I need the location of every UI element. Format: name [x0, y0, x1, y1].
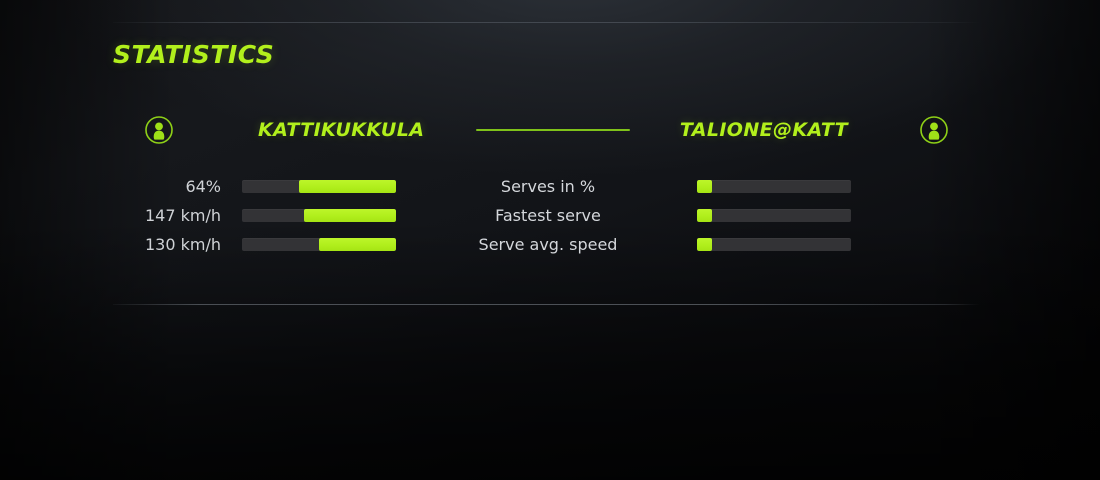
statistics-panel: STATISTICS KATTIKUKKULA TALIONE@KATT 64% [0, 0, 1100, 480]
left-bar-wrap [221, 238, 417, 251]
right-bar-track [697, 180, 851, 193]
right-bar-track [697, 209, 851, 222]
left-bar-wrap [221, 180, 417, 193]
left-value: 64% [113, 177, 221, 196]
left-bar-track [242, 180, 396, 193]
table-row: 147 km/h Fastest serve [113, 201, 980, 230]
left-bar-fill [304, 209, 396, 222]
left-bar-track [242, 238, 396, 251]
stat-label: Fastest serve [417, 206, 679, 225]
right-player-avatar[interactable] [888, 115, 980, 145]
center-green-rule [476, 129, 630, 131]
person-avatar-icon [919, 115, 949, 145]
left-player-name: KATTIKUKKULA [205, 119, 458, 141]
person-avatar-icon [144, 115, 174, 145]
left-bar-fill [299, 180, 396, 193]
top-divider [113, 22, 980, 23]
table-row: 130 km/h Serve avg. speed [113, 230, 980, 259]
left-player-avatar[interactable] [113, 115, 205, 145]
page-title: STATISTICS [113, 40, 274, 69]
left-bar-fill [319, 238, 396, 251]
left-bar-track [242, 209, 396, 222]
stat-label: Serves in % [417, 177, 679, 196]
left-value: 130 km/h [113, 235, 221, 254]
right-bar-wrap [679, 238, 872, 251]
header-center-rule-wrap [458, 129, 648, 131]
left-bar-wrap [221, 209, 417, 222]
right-bar-fill [697, 180, 712, 193]
right-bar-wrap [679, 209, 872, 222]
table-row: 64% Serves in % [113, 172, 980, 201]
stats-table: 64% Serves in % 147 km/h Fastest se [113, 172, 980, 259]
bottom-divider [113, 304, 980, 305]
right-bar-track [697, 238, 851, 251]
players-header-row: KATTIKUKKULA TALIONE@KATT [113, 110, 980, 150]
right-bar-fill [697, 209, 712, 222]
right-player-name: TALIONE@KATT [648, 119, 888, 141]
stat-label: Serve avg. speed [417, 235, 679, 254]
left-value: 147 km/h [113, 206, 221, 225]
right-bar-fill [697, 238, 712, 251]
right-bar-wrap [679, 180, 872, 193]
